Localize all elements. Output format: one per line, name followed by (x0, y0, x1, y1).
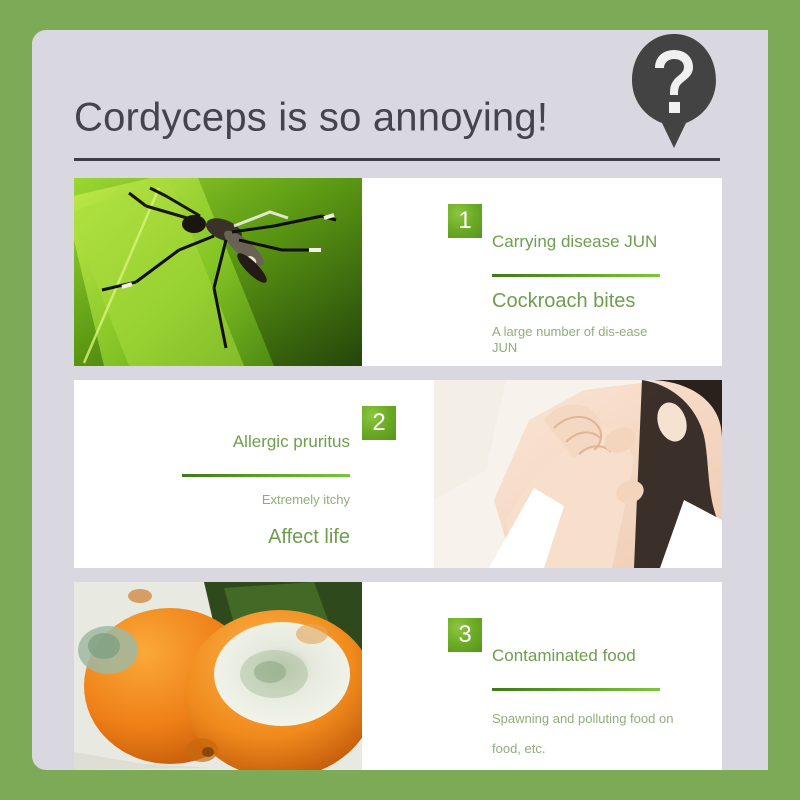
woman-scratching-neck-image (434, 380, 722, 568)
reason-body: Extremely itchy (150, 492, 350, 508)
step-badge: 3 (448, 618, 482, 652)
reason-list: 1 Carrying disease JUN Cockroach bites A… (74, 178, 722, 770)
header: Cordyceps is so annoying! (32, 30, 768, 160)
reason-heading: Contaminated food (492, 646, 636, 666)
question-mark-pin-icon (628, 32, 720, 150)
step-badge: 2 (362, 406, 396, 440)
reason-body: Spawning and polluting food on food, etc… (492, 704, 682, 764)
list-item[interactable]: 1 Carrying disease JUN Cockroach bites A… (74, 178, 722, 366)
reason-heading: Allergic pruritus (233, 432, 350, 452)
reason-copy: 2 Allergic pruritus Extremely itchy Affe… (74, 380, 434, 568)
page-title: Cordyceps is so annoying! (74, 96, 548, 141)
mosquito-on-green-leaf-image (74, 178, 362, 366)
reason-subheading: Affect life (268, 526, 350, 549)
step-badge: 1 (448, 204, 482, 238)
accent-divider (492, 274, 660, 277)
accent-divider (182, 474, 350, 477)
title-divider (74, 158, 720, 161)
reason-copy: 3 Contaminated food Spawning and polluti… (362, 582, 722, 770)
moldy-oranges-image (74, 582, 362, 770)
reason-heading: Carrying disease JUN (492, 232, 657, 252)
reason-subheading: Cockroach bites (492, 290, 635, 313)
infographic-poster: Cordyceps is so annoying! (0, 0, 800, 800)
list-item[interactable]: 3 Contaminated food Spawning and polluti… (74, 582, 722, 770)
list-item[interactable]: 2 Allergic pruritus Extremely itchy Affe… (74, 380, 722, 568)
reason-copy: 1 Carrying disease JUN Cockroach bites A… (362, 178, 722, 366)
accent-divider (492, 688, 660, 691)
content-panel: Cordyceps is so annoying! (32, 30, 768, 770)
reason-body: A large number of dis-ease JUN (492, 324, 672, 356)
